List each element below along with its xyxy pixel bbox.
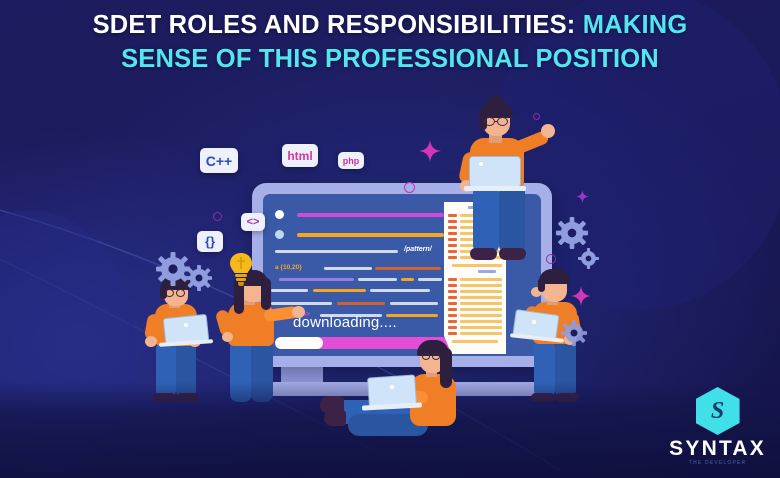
code-snippet-pattern: /pattern/ [404,246,432,253]
gear-icon [561,320,587,346]
person-left-pointing [214,268,294,406]
sparkle-icon [419,140,441,162]
sparkle-icon [571,286,591,306]
ring-icon [404,182,415,193]
screen-dot [275,210,284,219]
code-tag-cpp[interactable]: C++ [200,148,238,173]
syntax-hex-icon: S [696,387,740,435]
code-tag-angle-label: <> [247,216,260,228]
code-tag-angle[interactable]: <> [241,213,265,231]
logo-wordmark: SYNTAX [669,438,766,459]
code-tag-braces-label: {} [205,234,215,249]
screen-dot [275,230,284,239]
lightbulb-icon [228,252,254,286]
gear-icon [186,265,212,291]
gear-icon [578,248,599,269]
code-line [418,278,442,281]
code-tag-html[interactable]: html [282,144,318,167]
title-line-1-white: SDET ROLES AND RESPONSIBILITIES: [93,11,576,39]
code-tag-cpp-label: C++ [206,153,232,169]
sparkle-icon [576,190,589,203]
code-line [324,267,372,270]
person-on-monitor [455,96,555,271]
logo[interactable]: S SYNTAX THE DEVELOPER [669,387,766,466]
gear-icon [156,252,190,286]
code-line [313,289,366,292]
code-tag-php-label: php [343,156,360,166]
download-status-text: downloading.... [293,314,397,331]
code-tag-php[interactable]: php [338,152,364,169]
title-line-2: SENSE OF THIS PROFESSIONAL POSITION [0,42,780,76]
code-line [297,233,444,237]
code-tag-html-label: html [287,149,312,163]
code-line [297,213,444,217]
poster-canvas: SDET ROLES AND RESPONSIBILITIES: MAKING … [0,0,780,478]
code-line [358,278,397,281]
code-tag-braces[interactable]: {} [197,231,223,252]
code-line [401,278,414,281]
person-seated-bottom [318,352,468,462]
ring-icon [546,254,556,264]
person-left-standing [142,278,224,403]
gear-icon [556,217,588,249]
code-line [390,302,438,305]
ring-icon [533,113,540,120]
code-line [375,267,441,270]
code-line [275,250,398,253]
title-line-1: SDET ROLES AND RESPONSIBILITIES: MAKING [0,8,780,42]
code-line [370,289,430,292]
logo-tagline: THE DEVELOPER [669,461,766,466]
title-line-1-cyan: MAKING [576,11,688,39]
code-line [337,302,385,305]
page-title: SDET ROLES AND RESPONSIBILITIES: MAKING … [0,8,780,76]
logo-letter-s: S [711,399,724,423]
ring-icon [213,212,222,221]
